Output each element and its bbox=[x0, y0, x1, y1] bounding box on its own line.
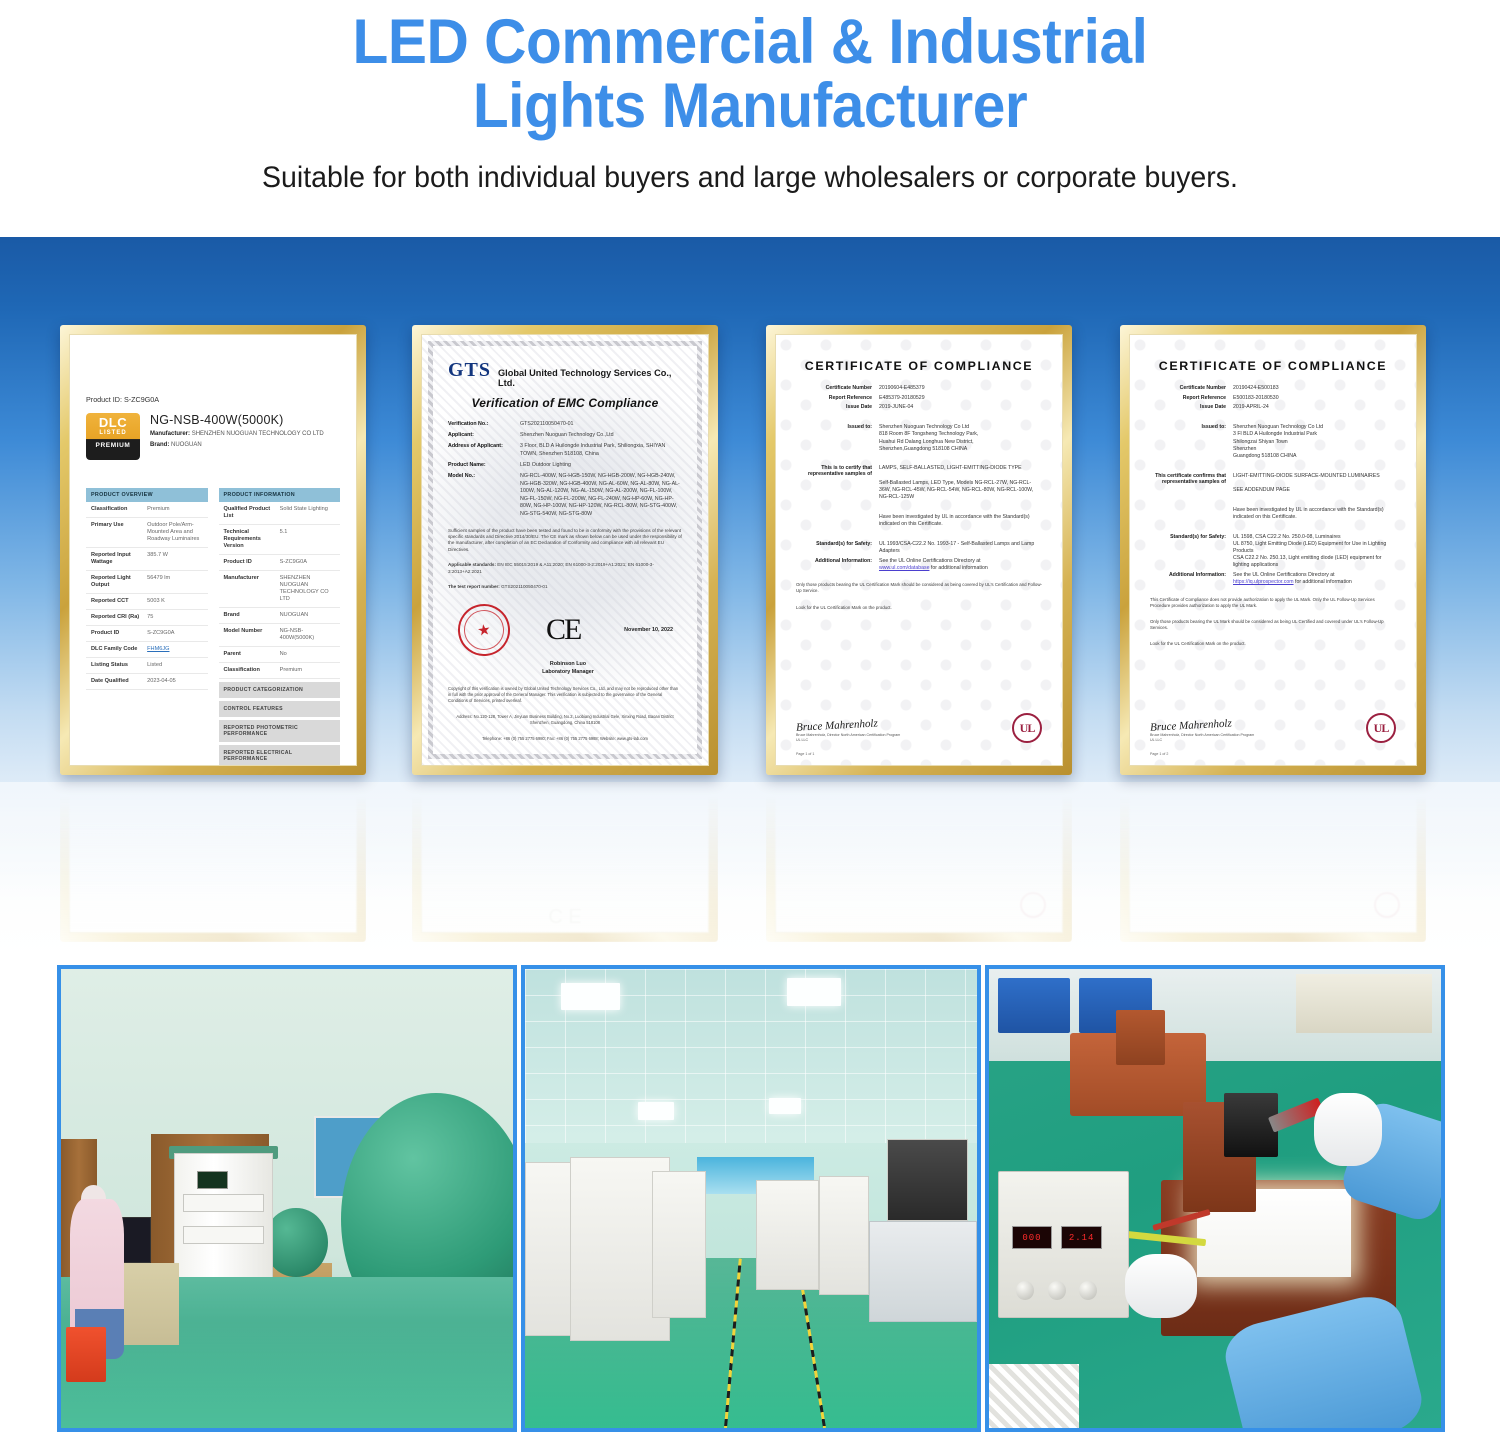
certificate-frame-ul-luminaires[interactable]: CERTIFICATE OF COMPLIANCE Certificate Nu… bbox=[1120, 325, 1426, 775]
row-value: 3 Floor, BLD A Huilongde Industrial Park… bbox=[520, 443, 682, 458]
dlc-brand-value: NUOGUAN bbox=[171, 442, 202, 448]
certify-value: LIGHT-EMITTING-DIODE SURFACE-MOUNTED LUM… bbox=[1233, 473, 1380, 479]
row-key: This is to certify that representative s… bbox=[796, 465, 872, 501]
ul-footer-note-1: Only those products bearing the UL Certi… bbox=[796, 582, 1042, 594]
row-value: SHENZHEN NUOGUAN TECHNOLOGY CO LTD bbox=[280, 575, 335, 603]
row-value: NG-RCL-400W, NG-HGB-150W, NG-HGB-200W, N… bbox=[520, 473, 682, 519]
detail-row: Product Name:LED Outdoor Lighting bbox=[448, 462, 682, 470]
accordion-section[interactable]: CONTROL FEATURES bbox=[219, 701, 341, 717]
ul-footer-note-1: This Certificate of Compliance does not … bbox=[1150, 597, 1396, 609]
row-key: Technical Requirements Version bbox=[224, 529, 275, 550]
row-value[interactable]: FHM6JG bbox=[147, 646, 202, 653]
certificate-ul-lamps: CERTIFICATE OF COMPLIANCE Certificate Nu… bbox=[775, 334, 1063, 766]
ul-footer-note-3: Look for the UL Certification Mark on th… bbox=[1150, 641, 1396, 647]
reflection-dlc bbox=[60, 782, 366, 942]
table-header: PRODUCT INFORMATION bbox=[219, 488, 341, 502]
gts-telephone: Telephone: +86 (0) 755 2775 6980; Fax: +… bbox=[448, 736, 682, 742]
row-value: S-ZC9G0A bbox=[280, 559, 335, 566]
additional-info-row: Additional Information: See the UL Onlin… bbox=[796, 558, 1042, 572]
detail-row: Verification No.:GTS202110050470-01 bbox=[448, 421, 682, 429]
integrating-sphere-small bbox=[264, 1208, 327, 1277]
page-subtitle: Suitable for both individual buyers and … bbox=[38, 161, 1463, 195]
headline-line-2: Lights Manufacturer bbox=[53, 74, 1448, 138]
photo-led-module-testing[interactable]: 000 2.14 Operator testing LED module on … bbox=[985, 965, 1445, 1432]
accordion-section[interactable]: REPORTED ELECTRICAL PERFORMANCE bbox=[219, 745, 341, 766]
photo-smt-production-line[interactable]: SMT production line with SIPLACE pick-an… bbox=[521, 965, 981, 1432]
gts-issue-date: November 10, 2022 bbox=[624, 627, 673, 633]
table-row: Model NumberNG-NSB-400W(5000K) bbox=[219, 624, 341, 647]
table-row: Listing StatusListed bbox=[86, 658, 208, 674]
investigated-row: Have been investigated by UL in accordan… bbox=[796, 514, 1042, 528]
certificate-gts: GTS Global United Technology Services Co… bbox=[421, 334, 709, 766]
row-key: Manufacturer bbox=[224, 575, 275, 603]
gts-report-number: The test report number: GTS202110050470-… bbox=[448, 584, 682, 590]
page-title: LED Commercial & Industrial Lights Manuf… bbox=[53, 6, 1448, 139]
row-key: Issue Date bbox=[1150, 404, 1226, 411]
table-row: ClassificationPremium bbox=[219, 663, 341, 679]
gloved-hand-lower bbox=[1125, 1254, 1197, 1318]
detail-row: Certificate Number20190424-E500183 bbox=[1150, 385, 1396, 392]
signature-caption: Bruce Mahrenholz, Director North America… bbox=[796, 733, 900, 743]
table-row: Primary UseOutdoor Pole/Arm-Mounted Area… bbox=[86, 518, 208, 548]
row-value: E485379-20180529 bbox=[879, 395, 925, 402]
detail-row: Address of Applicant:3 Floor, BLD A Huil… bbox=[448, 443, 682, 458]
row-value: LED Outdoor Lighting bbox=[520, 462, 571, 470]
ul-logo-icon: UL bbox=[1012, 713, 1042, 743]
dlc-badge-line3: PREMIUM bbox=[96, 442, 131, 449]
certificates-section: Product ID: S-ZC9G0A DLC LISTED PREMIUM … bbox=[0, 237, 1500, 959]
page-number: Page 1 of 2 bbox=[1150, 752, 1168, 756]
detail-row: Issue Date2019-APRIL-24 bbox=[1150, 404, 1396, 411]
table-row: ParentNo bbox=[219, 647, 341, 663]
detail-row: Certificate Number20190604-E485379 bbox=[796, 385, 1042, 392]
table-row: Qualified Product ListSolid State Lighti… bbox=[219, 502, 341, 525]
dlc-model-title: NG-NSB-400W(5000K) bbox=[150, 413, 324, 427]
gts-standards: Applicable standards: EN IEC 55015:2019 … bbox=[448, 562, 682, 575]
gts-conformity-note: Sufficient samples of the product have b… bbox=[448, 528, 682, 554]
table-header: PRODUCT OVERVIEW bbox=[86, 488, 208, 502]
row-value: UL 1993/CSA-C22.2 No. 1993-17 - Self-Bal… bbox=[879, 541, 1042, 555]
certify-row: This is to certify that representative s… bbox=[796, 465, 1042, 501]
row-value: NG-NSB-400W(5000K) bbox=[280, 628, 335, 642]
table-row: Reported Input Wattage385.7 W bbox=[86, 548, 208, 571]
table-row: DLC Family CodeFHM6JG bbox=[86, 642, 208, 658]
gts-signature-name: Robinson Luo bbox=[454, 660, 682, 668]
row-key: Address of Applicant: bbox=[448, 443, 512, 458]
accordion-section[interactable]: PRODUCT CATEGORIZATION bbox=[219, 682, 341, 698]
additional-info-row: Additional Information: See the UL Onlin… bbox=[1150, 572, 1396, 586]
dlc-product-overview-table: PRODUCT OVERVIEW ClassificationPremium P… bbox=[86, 488, 208, 766]
table-row: BrandNUOGUAN bbox=[219, 608, 341, 624]
row-key: Additional Information: bbox=[796, 558, 872, 572]
row-value: Have been investigated by UL in accordan… bbox=[1233, 507, 1396, 521]
signature: Bruce Mahrenholz bbox=[1150, 716, 1255, 733]
row-key: Listing Status bbox=[91, 662, 142, 669]
models-note: SEE ADDENDUM PAGE bbox=[1233, 487, 1290, 493]
row-value: No bbox=[280, 651, 335, 658]
row-key: Verification No.: bbox=[448, 421, 512, 429]
row-key: Certificate Number bbox=[1150, 385, 1226, 392]
additional-value: See the UL Online Certifications Directo… bbox=[879, 558, 981, 564]
psu-current-display: 2.14 bbox=[1061, 1226, 1102, 1249]
row-key: Report Reference bbox=[796, 395, 872, 402]
row-key: Standard(s) for Safety: bbox=[1150, 534, 1226, 570]
dlc-brand: Brand: NUOGUAN bbox=[150, 441, 324, 449]
table-row: ClassificationPremium bbox=[86, 502, 208, 518]
additional-value: See the UL Online Certifications Directo… bbox=[1233, 572, 1335, 578]
row-key: Issue Date bbox=[796, 404, 872, 411]
gts-address: Address: No.120-128, Tower A, Jinyuan Bu… bbox=[448, 714, 682, 726]
row-key: Model No.: bbox=[448, 473, 512, 519]
additional-suffix: for additional information bbox=[1294, 579, 1352, 585]
row-value: 2023-04-05 bbox=[147, 678, 202, 685]
dlc-product-id: Product ID: S-ZC9G0A bbox=[86, 395, 340, 404]
detail-row: Issue Date2019-JUNE-04 bbox=[796, 404, 1042, 411]
table-row: ManufacturerSHENZHEN NUOGUAN TECHNOLOGY … bbox=[219, 571, 341, 608]
certificate-frame-ul-lamps[interactable]: CERTIFICATE OF COMPLIANCE Certificate Nu… bbox=[766, 325, 1072, 775]
gts-signature-block: Robinson Luo Laboratory Manager bbox=[454, 660, 682, 676]
row-value: Have been investigated by UL in accordan… bbox=[879, 514, 1042, 528]
row-key: Applicant: bbox=[448, 432, 512, 440]
row-key: Report Reference bbox=[1150, 395, 1226, 402]
certificate-title: CERTIFICATE OF COMPLIANCE bbox=[796, 359, 1042, 373]
row-key: Certificate Number bbox=[796, 385, 872, 392]
row-key: DLC Family Code bbox=[91, 646, 142, 653]
table-row: Reported CCT5003 K bbox=[86, 594, 208, 610]
row-key: Product Name: bbox=[448, 462, 512, 470]
certificate-title: CERTIFICATE OF COMPLIANCE bbox=[1150, 359, 1396, 373]
reflection-ul-luminaires bbox=[1120, 782, 1426, 942]
row-key: Qualified Product List bbox=[224, 506, 275, 520]
row-key: Parent bbox=[224, 651, 275, 658]
red-stamp-seal bbox=[455, 601, 514, 660]
table-row: Date Qualified2023-04-05 bbox=[86, 674, 208, 690]
ul-directory-link[interactable]: www.ul.com/database bbox=[879, 565, 929, 571]
row-value: 56479 lm bbox=[147, 575, 202, 589]
certificate-dlc: Product ID: S-ZC9G0A DLC LISTED PREMIUM … bbox=[69, 334, 357, 766]
ul-directory-link[interactable]: https://iq.ulprospector.com bbox=[1233, 579, 1294, 585]
gts-signature-role: Laboratory Manager bbox=[454, 668, 682, 676]
row-value: NUOGUAN bbox=[280, 612, 335, 619]
row-key: Classification bbox=[224, 667, 275, 674]
row-value: 2019-JUNE-04 bbox=[879, 404, 913, 411]
reflection-gts: C E bbox=[412, 782, 718, 942]
row-value: Premium bbox=[147, 506, 202, 513]
row-value: 20190424-E500183 bbox=[1233, 385, 1279, 392]
ul-logo-icon: UL bbox=[1366, 713, 1396, 743]
accordion-section[interactable]: REPORTED PHOTOMETRIC PERFORMANCE bbox=[219, 720, 341, 742]
gts-company-name: Global United Technology Services Co., L… bbox=[498, 368, 682, 388]
row-key: Date Qualified bbox=[91, 678, 142, 685]
row-value: Solid State Lighting bbox=[280, 506, 335, 520]
detail-row: Report ReferenceE500183-20180530 bbox=[1150, 395, 1396, 402]
certificate-frame-gts[interactable]: GTS Global United Technology Services Co… bbox=[412, 325, 718, 775]
floor-gloss bbox=[0, 782, 1500, 959]
row-value: Premium bbox=[280, 667, 335, 674]
gts-copyright: Copyright of this verification is owned … bbox=[448, 686, 682, 704]
row-value: 2019-APRIL-24 bbox=[1233, 404, 1269, 411]
table-row: Reported Light Output56479 lm bbox=[86, 571, 208, 594]
row-value: Shenzhen Nuoguan Technology Co Ltd 3 Fl … bbox=[1233, 424, 1323, 460]
row-key: Product ID bbox=[91, 630, 142, 637]
row-value: 385.7 W bbox=[147, 552, 202, 566]
table-row: Product IDS-ZC9G0A bbox=[86, 626, 208, 642]
certify-value: LAMPS, SELF-BALLASTED, LIGHT-EMITTING-DI… bbox=[879, 465, 1022, 471]
dlc-badge-line1: DLC bbox=[99, 417, 127, 429]
issued-to-row: Issued to:Shenzhen Nuoguan Technology Co… bbox=[1150, 424, 1396, 460]
marketing-banner: LED Commercial & Industrial Lights Manuf… bbox=[0, 0, 1500, 1438]
row-value: E500183-20180530 bbox=[1233, 395, 1279, 402]
gts-logo: GTS bbox=[448, 359, 491, 382]
certify-row: This certificate confirms that represent… bbox=[1150, 473, 1396, 495]
gts-standards-label: Applicable standards: bbox=[448, 562, 496, 567]
table-row: Product IDS-ZC9G0A bbox=[219, 555, 341, 571]
row-key: Primary Use bbox=[91, 522, 142, 543]
dlc-manufacturer: Manufacturer: SHENZHEN NUOGUAN TECHNOLOG… bbox=[150, 430, 324, 438]
dlc-badge-line2: LISTED bbox=[99, 429, 126, 437]
signature: Bruce Mahrenholz bbox=[796, 716, 901, 733]
row-key: Issued to: bbox=[1150, 424, 1226, 460]
row-key: Product ID bbox=[224, 559, 275, 566]
row-key: Brand bbox=[224, 612, 275, 619]
row-key: Reported CRI (Ra) bbox=[91, 614, 142, 621]
dlc-manufacturer-label: Manufacturer: bbox=[150, 431, 190, 437]
gts-report-label: The test report number: bbox=[448, 584, 500, 589]
ul-footer-note-2: Only those products bearing the UL Mark … bbox=[1150, 619, 1396, 631]
header-section: LED Commercial & Industrial Lights Manuf… bbox=[0, 0, 1500, 237]
additional-suffix: for additional information bbox=[929, 565, 987, 571]
row-key: Standard(s) for Safety: bbox=[796, 541, 872, 555]
row-value: 5.1 bbox=[280, 529, 335, 550]
detail-row: Applicant:Shenzhen Nuoguan Technology Co… bbox=[448, 432, 682, 440]
models-note: Self-Ballasted Lamps, LED Type, Models N… bbox=[879, 480, 1033, 500]
row-key: Model Number bbox=[224, 628, 275, 642]
photo-lab-integrating-sphere[interactable]: Photometric lab with integrating spheres… bbox=[57, 965, 517, 1432]
row-key: This certificate confirms that represent… bbox=[1150, 473, 1226, 495]
detail-row: Model No.:NG-RCL-400W, NG-HGB-150W, NG-H… bbox=[448, 473, 682, 519]
page-number: Page 1 of 1 bbox=[796, 752, 814, 756]
row-key: Reported Input Wattage bbox=[91, 552, 142, 566]
dlc-brand-label: Brand: bbox=[150, 442, 169, 448]
gloved-hand-upper bbox=[1314, 1093, 1382, 1166]
row-value: GTS202110050470-01 bbox=[520, 421, 574, 429]
dlc-listed-badge: DLC LISTED PREMIUM bbox=[86, 413, 140, 460]
factory-photos-section: Photometric lab with integrating spheres… bbox=[0, 959, 1500, 1438]
gts-report-value: GTS202110050470-01 bbox=[501, 584, 547, 589]
row-value: Shenzhen Nuoguan Technology Co.,Ltd bbox=[520, 432, 614, 440]
investigated-row: Have been investigated by UL in accordan… bbox=[1150, 507, 1396, 521]
psu-voltage-display: 000 bbox=[1012, 1226, 1053, 1249]
dlc-product-information-table: PRODUCT INFORMATION Qualified Product Li… bbox=[219, 488, 341, 766]
row-value: Outdoor Pole/Arm-Mounted Area and Roadwa… bbox=[147, 522, 202, 543]
row-key: Issued to: bbox=[796, 424, 872, 453]
row-value: UL 1598, CSA C22.2 No. 250.0-08, Luminai… bbox=[1233, 534, 1396, 570]
detail-row: Report ReferenceE485379-20180529 bbox=[796, 395, 1042, 402]
gts-title: Verification of EMC Compliance bbox=[448, 396, 682, 410]
row-value: S-ZC9G0A bbox=[147, 630, 202, 637]
issued-to-row: Issued to:Shenzhen Nuoguan Technology Co… bbox=[796, 424, 1042, 453]
ul-footer-note-2: Look for the UL Certification Mark on th… bbox=[796, 605, 1042, 611]
row-key: Reported Light Output bbox=[91, 575, 142, 589]
ce-mark-icon: CE bbox=[546, 613, 580, 647]
signature-caption: Bruce Mahrenholz, Director North America… bbox=[1150, 733, 1254, 743]
headline-line-1: LED Commercial & Industrial bbox=[353, 7, 1148, 77]
certificate-frame-dlc[interactable]: Product ID: S-ZC9G0A DLC LISTED PREMIUM … bbox=[60, 325, 366, 775]
standards-row: Standard(s) for Safety:UL 1598, CSA C22.… bbox=[1150, 534, 1396, 570]
reflection-ul-lamps bbox=[766, 782, 1072, 942]
row-value: 20190604-E485379 bbox=[879, 385, 925, 392]
certificate-ul-luminaires: CERTIFICATE OF COMPLIANCE Certificate Nu… bbox=[1129, 334, 1417, 766]
row-value: Shenzhen Nuoguan Technology Co Ltd 818 R… bbox=[879, 424, 978, 453]
row-value: 75 bbox=[147, 614, 202, 621]
standards-row: Standard(s) for Safety:UL 1993/CSA-C22.2… bbox=[796, 541, 1042, 555]
row-key: Classification bbox=[91, 506, 142, 513]
row-value: 5003 K bbox=[147, 598, 202, 605]
table-row: Reported CRI (Ra)75 bbox=[86, 610, 208, 626]
row-key: Reported CCT bbox=[91, 598, 142, 605]
row-value: Listed bbox=[147, 662, 202, 669]
row-key: Additional Information: bbox=[1150, 572, 1226, 586]
table-row: Technical Requirements Version5.1 bbox=[219, 525, 341, 555]
dlc-manufacturer-value: SHENZHEN NUOGUAN TECHNOLOGY CO LTD bbox=[192, 431, 324, 437]
